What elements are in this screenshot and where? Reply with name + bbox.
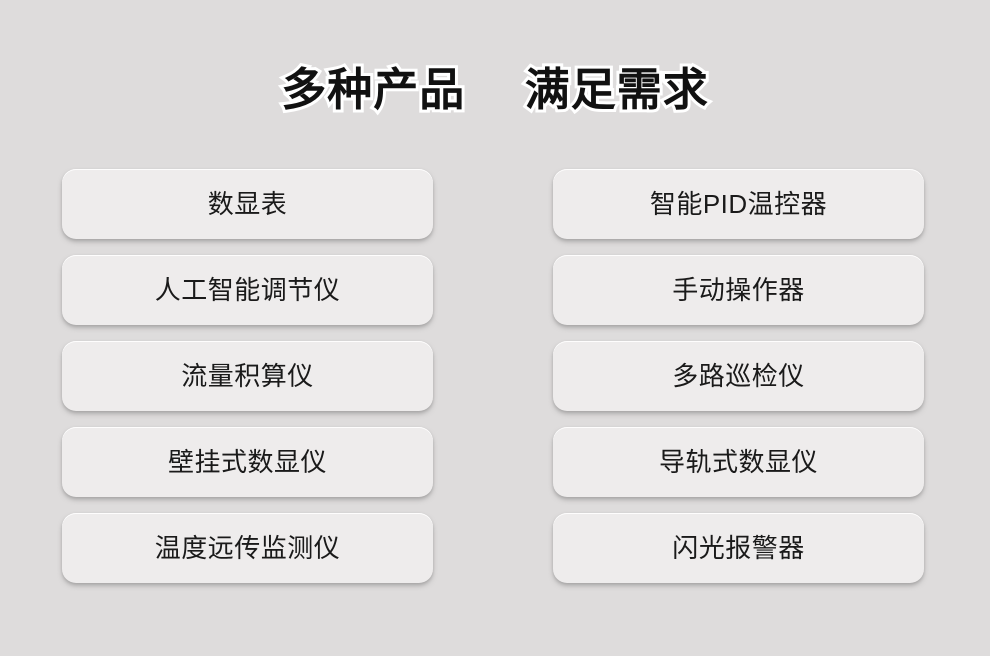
- product-card-label: 手动操作器: [672, 275, 805, 305]
- product-card-label: 数显表: [208, 189, 288, 219]
- product-card-label: 壁挂式数显仪: [168, 447, 327, 477]
- product-card-multi-channel-scanner[interactable]: 多路巡检仪: [553, 341, 924, 411]
- product-card-grid: 数显表 人工智能调节仪 流量积算仪 壁挂式数显仪 温度远传监测仪 智能PID温控…: [62, 169, 924, 583]
- product-card-label: 人工智能调节仪: [155, 275, 341, 305]
- product-card-label: 闪光报警器: [672, 533, 805, 563]
- product-card-manual-operator[interactable]: 手动操作器: [553, 255, 924, 325]
- product-card-ai-regulator[interactable]: 人工智能调节仪: [62, 255, 433, 325]
- product-card-label: 多路巡检仪: [672, 361, 805, 391]
- product-card-label: 导轨式数显仪: [659, 447, 818, 477]
- product-card-flow-totalizer[interactable]: 流量积算仪: [62, 341, 433, 411]
- product-column-right: 智能PID温控器 手动操作器 多路巡检仪 导轨式数显仪 闪光报警器: [553, 169, 924, 583]
- product-card-label: 流量积算仪: [181, 361, 314, 391]
- product-card-flash-alarm[interactable]: 闪光报警器: [553, 513, 924, 583]
- product-card-label: 温度远传监测仪: [155, 533, 341, 563]
- product-card-din-rail-display[interactable]: 导轨式数显仪: [553, 427, 924, 497]
- product-card-label: 智能PID温控器: [650, 189, 827, 219]
- product-card-pid-temperature-controller[interactable]: 智能PID温控器: [553, 169, 924, 239]
- product-category-banner: 多种产品 满足需求 数显表 人工智能调节仪 流量积算仪 壁挂式数显仪 温度远传监…: [0, 0, 990, 656]
- product-card-digital-meter[interactable]: 数显表: [62, 169, 433, 239]
- product-column-left: 数显表 人工智能调节仪 流量积算仪 壁挂式数显仪 温度远传监测仪: [62, 169, 433, 583]
- product-card-wall-mounted-display[interactable]: 壁挂式数显仪: [62, 427, 433, 497]
- page-title: 多种产品 满足需求: [0, 62, 990, 118]
- product-card-remote-temperature-monitor[interactable]: 温度远传监测仪: [62, 513, 433, 583]
